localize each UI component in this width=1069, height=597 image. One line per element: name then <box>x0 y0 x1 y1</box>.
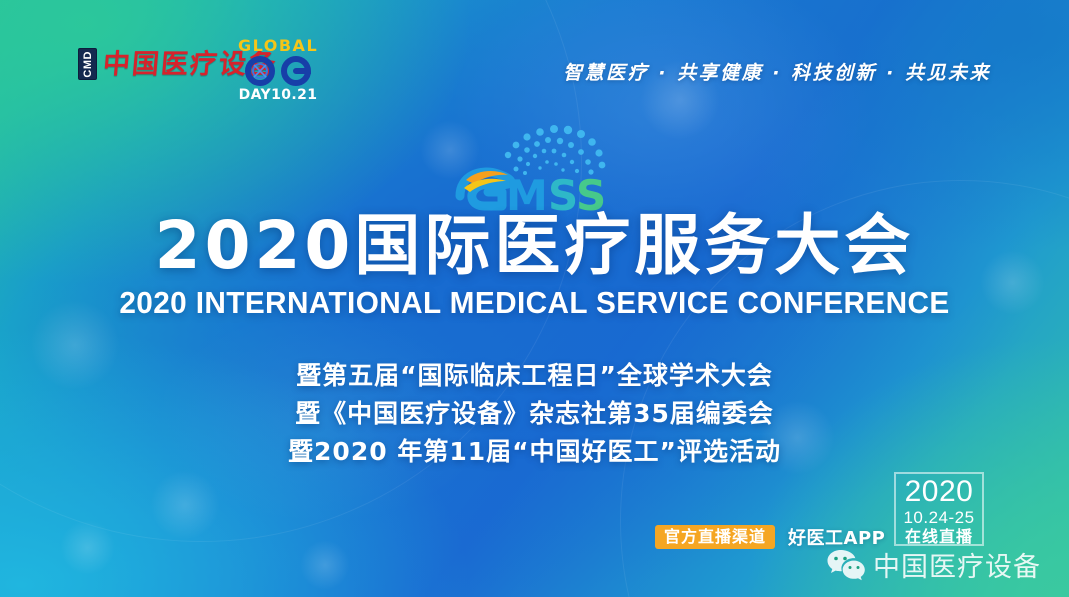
conference-title-english: 2020 INTERNATIONAL MEDICAL SERVICE CONFE… <box>21 286 1047 320</box>
event-days: 10.24-25 <box>896 508 982 527</box>
gmss-emblem: M S S <box>450 124 620 219</box>
wechat-watermark: 中国医疗设备 <box>826 545 1041 584</box>
bokeh-dot <box>300 540 350 590</box>
poster-slogan: 智慧医疗 · 共享健康 · 科技创新 · 共见未来 <box>563 58 991 85</box>
global-ce-day-logo: GLOBAL DAY10.21 <box>238 38 318 102</box>
wechat-icon <box>826 548 866 582</box>
poster-header: CMD 中国医疗设备 GLOBAL DAY10.2 <box>0 0 1069 118</box>
ce-day-date: DAY10.21 <box>238 88 318 102</box>
cmd-badge-label: CMD <box>82 51 94 78</box>
bokeh-dot <box>60 520 115 575</box>
bokeh-dot <box>150 470 220 540</box>
subtitle-line: 暨《中国医疗设备》杂志社第35届编委会 <box>0 395 1069 433</box>
subtitle-line: 暨2020 年第11届“中国好医工”评选活动 <box>0 433 1069 471</box>
ce-infinity-icon <box>238 55 318 87</box>
event-date-badge: 2020 10.24-25 在线直播 <box>894 472 984 546</box>
wechat-account-name: 中国医疗设备 <box>873 545 1041 584</box>
live-channel-badge: 官方直播渠道 <box>655 525 775 550</box>
conference-title-chinese: 2020国际医疗服务大会 <box>0 213 1069 279</box>
conference-subtitles: 暨第五届“国际临床工程日”全球学术大会 暨《中国医疗设备》杂志社第35届编委会 … <box>0 357 1069 471</box>
event-year: 2020 <box>896 476 982 508</box>
subtitle-line: 暨第五届“国际临床工程日”全球学术大会 <box>0 357 1069 395</box>
cmd-badge-icon: CMD <box>78 48 97 80</box>
event-broadcast-mode: 在线直播 <box>896 527 982 546</box>
ce-global-label: GLOBAL <box>238 38 318 54</box>
conference-poster: CMD 中国医疗设备 GLOBAL DAY10.2 <box>0 0 1069 597</box>
